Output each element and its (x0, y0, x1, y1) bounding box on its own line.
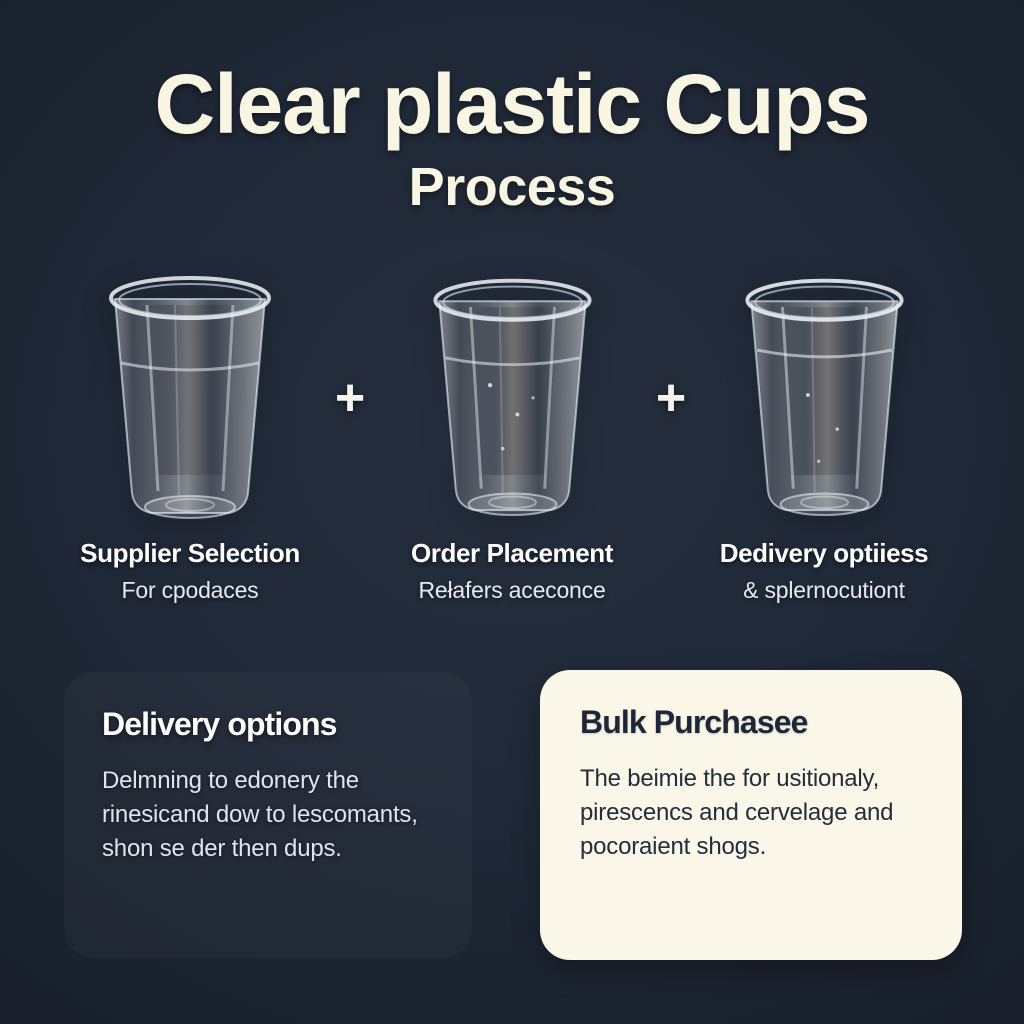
process-step-delivery-options: Dedivery optiiess & splernocutiont (690, 252, 958, 604)
step-title: Order Placement (378, 538, 646, 569)
header-block: Clear plastic Cups Process (0, 62, 1024, 214)
step-title: Dedivery optiiess (690, 538, 958, 569)
plus-icon-1: + (327, 378, 373, 424)
cup-image-2 (378, 252, 646, 520)
cup-image-3 (690, 252, 958, 520)
cup-image-1 (56, 252, 324, 520)
page-title: Clear plastic Cups (0, 62, 1024, 146)
clear-plastic-cup-icon (410, 265, 615, 520)
process-step-order-placement: Order Placement Rełafers aceconce (378, 252, 646, 604)
step-caption: Rełafers aceconce (378, 577, 646, 604)
process-step-supplier-selection: Supplier Selection For cpodaces (56, 252, 324, 604)
info-card-delivery-options: Delivery options Delmning to edonery the… (64, 672, 472, 958)
info-card-bulk-purchase: Bulk Purchasee The beimie the for usitio… (540, 670, 962, 960)
card-body: Delmning to edonery the rinesicand dow t… (102, 764, 434, 866)
card-heading: Bulk Purchasee (580, 706, 922, 740)
card-body: The beimie the for usitionaly, pirescenc… (580, 762, 922, 864)
step-title: Supplier Selection (56, 538, 324, 569)
card-heading: Delivery options (102, 708, 434, 742)
page-subtitle: Process (0, 160, 1024, 214)
step-caption: & splernocutiont (690, 577, 958, 604)
plus-icon-2: + (648, 378, 694, 424)
process-steps: Supplier Selection For cpodaces + (0, 252, 1024, 632)
step-caption: For cpodaces (56, 577, 324, 604)
clear-plastic-cup-icon (85, 265, 295, 520)
clear-plastic-cup-icon (722, 265, 927, 520)
poster-canvas: Clear plastic Cups Process (0, 0, 1024, 1024)
